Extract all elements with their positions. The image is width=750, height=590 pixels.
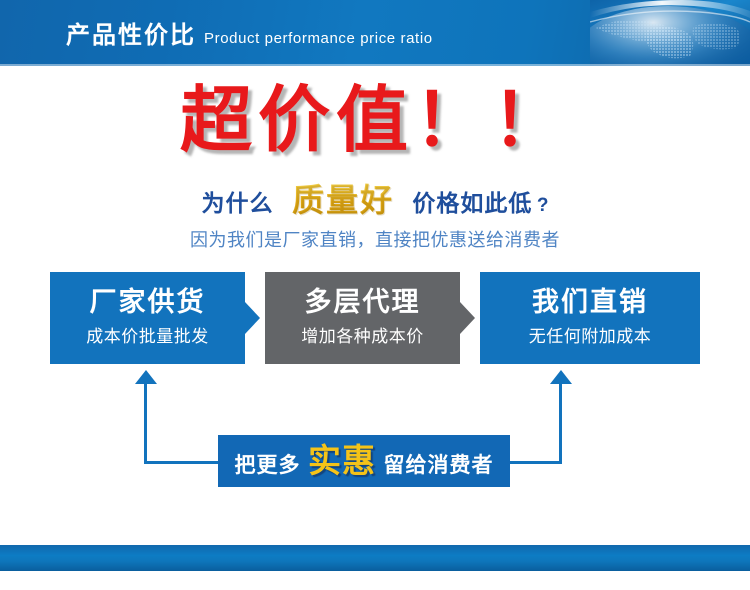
connector-horizontal-left xyxy=(144,461,226,464)
slogan-part-a: 把更多 xyxy=(235,454,301,477)
connector-horizontal-right xyxy=(508,461,562,464)
flow-arrow-icon-1 xyxy=(245,302,260,334)
reason-text: 因为我们是厂家直销，直接把优惠送给消费者 xyxy=(0,228,750,252)
flow-box-factory-supply: 厂家供货 成本价批量批发 xyxy=(50,272,245,364)
page-header: 产品性价比 Product performance price ratio xyxy=(0,0,750,66)
flow-box-subtitle: 成本价批量批发 xyxy=(50,326,245,348)
question-part-c: 价格如此低 xyxy=(412,190,532,216)
connector-arrowhead-right-icon xyxy=(550,370,572,384)
flow-arrow-icon-2 xyxy=(460,302,475,334)
bottom-slogan-banner: 把更多 实惠 留给消费者 xyxy=(218,435,510,487)
connector-vertical-left xyxy=(144,384,147,464)
supply-chain-flow: 厂家供货 成本价批量批发 多层代理 增加各种成本价 我们直销 无任何附加成本 xyxy=(50,272,700,364)
world-globe-icon xyxy=(590,0,750,66)
flow-box-title: 我们直销 xyxy=(480,286,700,318)
flow-box-subtitle: 无任何附加成本 xyxy=(480,326,700,348)
question-highlight-quality: 质量好 xyxy=(292,182,394,218)
flow-box-multi-layer-agency: 多层代理 增加各种成本价 xyxy=(265,272,460,364)
bottom-slogan-text: 把更多 实惠 留给消费者 xyxy=(218,445,510,484)
question-line: 为什么 质量好 价格如此低 ? xyxy=(0,183,750,224)
header-divider xyxy=(0,64,750,66)
main-headline: 超价值！！ xyxy=(0,82,750,160)
question-mark: ? xyxy=(537,195,549,216)
connector-vertical-right xyxy=(559,384,562,464)
question-part-a: 为什么 xyxy=(202,190,274,216)
flow-box-direct-sales: 我们直销 无任何附加成本 xyxy=(480,272,700,364)
page-footer-bar xyxy=(0,545,750,571)
flow-box-title: 厂家供货 xyxy=(50,286,245,318)
flow-box-subtitle: 增加各种成本价 xyxy=(265,326,460,348)
header-title-chinese: 产品性价比 xyxy=(66,22,196,50)
header-title-english: Product performance price ratio xyxy=(204,30,433,48)
connector-arrowhead-left-icon xyxy=(135,370,157,384)
slogan-highlight-benefit: 实惠 xyxy=(308,442,376,479)
flow-box-title: 多层代理 xyxy=(265,286,460,318)
slogan-part-c: 留给消费者 xyxy=(383,454,493,477)
